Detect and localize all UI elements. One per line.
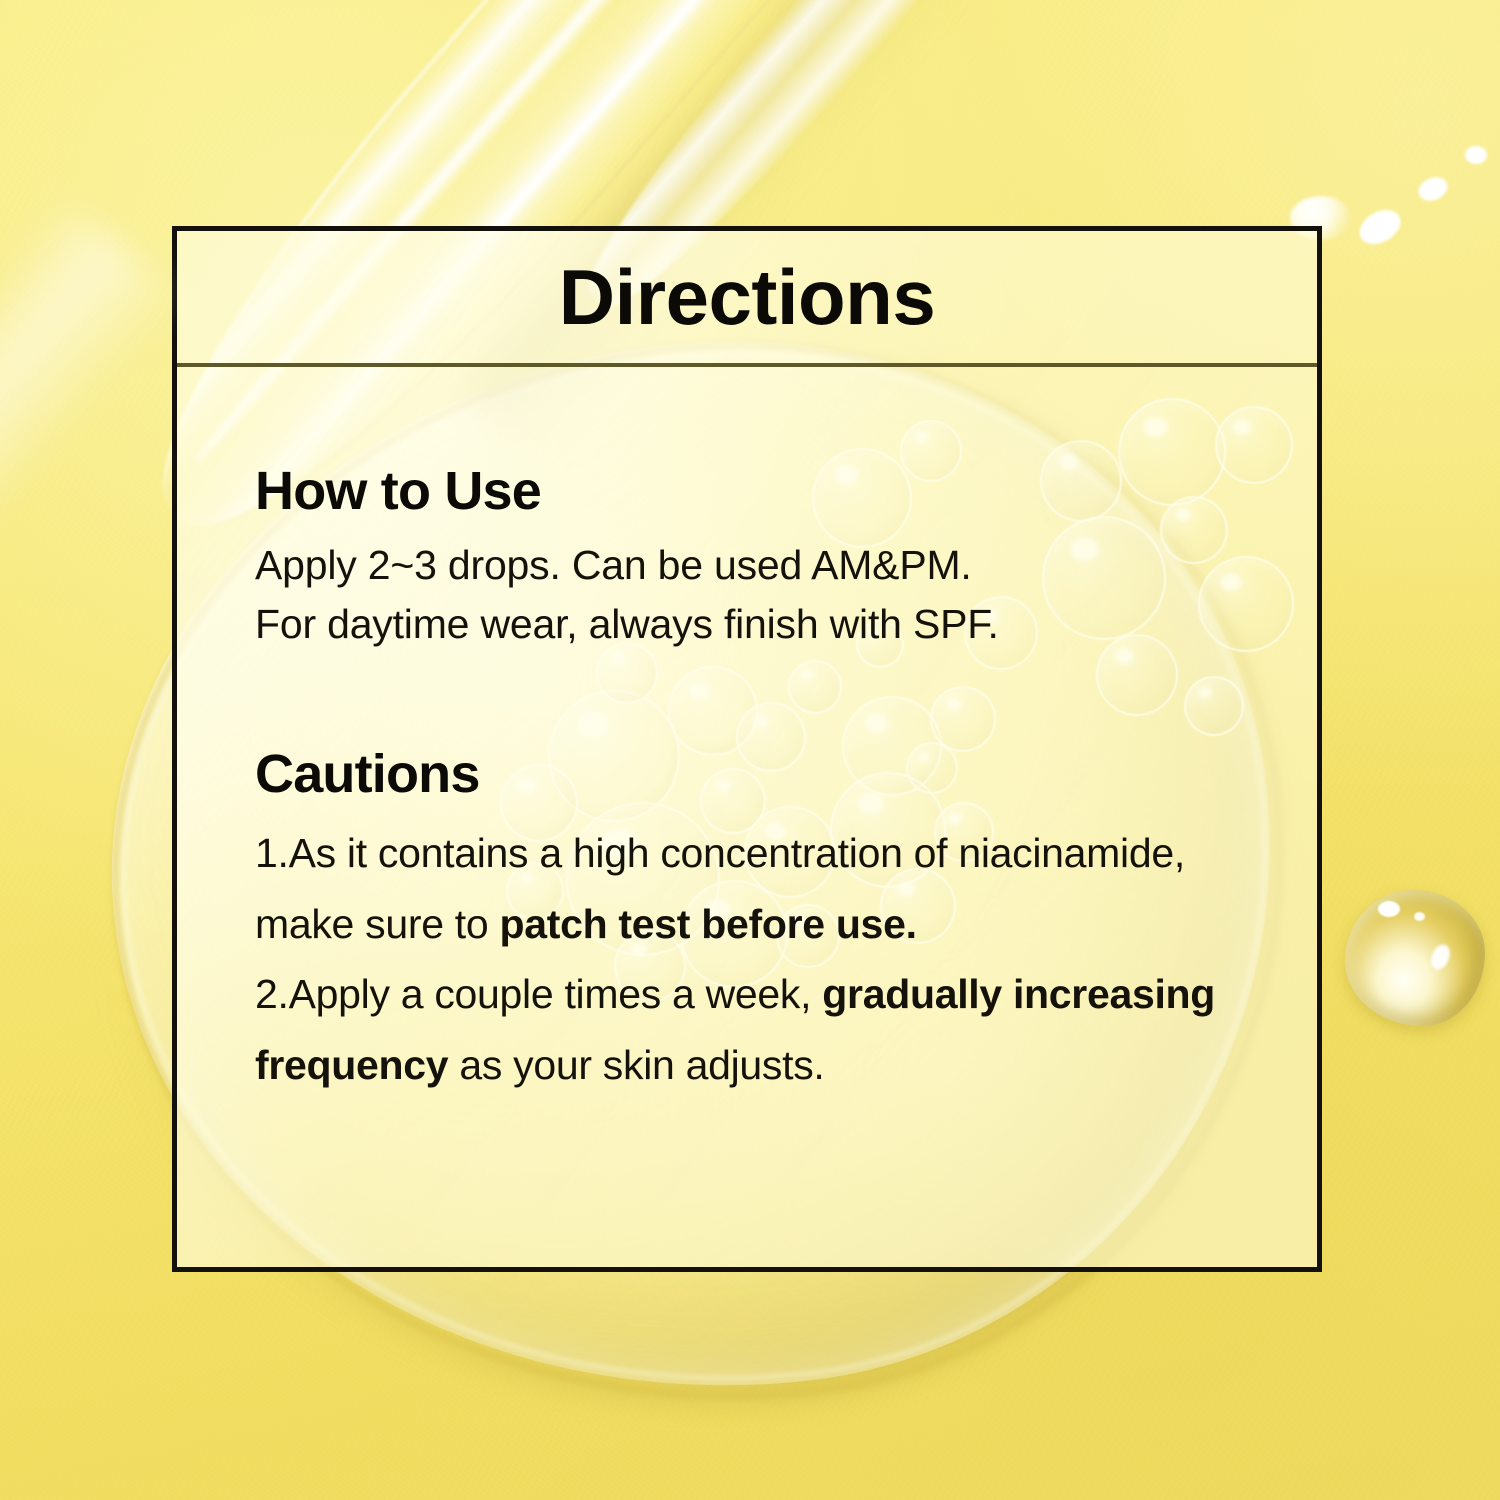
droplet-highlight [1378,901,1400,917]
section-cautions: Cautions 1.As it contains a high concent… [255,746,1245,1101]
panel-header: Directions [177,231,1317,367]
section-heading-cautions: Cautions [255,746,1245,803]
product-directions-graphic: Directions How to Use Apply 2~3 drops. C… [0,0,1500,1500]
panel-body: How to Use Apply 2~3 drops. Can be used … [177,367,1317,1101]
caution-number: 1. [255,830,289,876]
caution-text: Apply a couple times a week, [289,971,823,1017]
caution-item: 2.Apply a couple times a week, gradually… [255,959,1245,1100]
section-heading-how-to-use: How to Use [255,463,1245,520]
caution-item: 1.As it contains a high concentration of… [255,818,1245,959]
how-to-use-line: Apply 2~3 drops. Can be used AM&PM. [255,536,1245,595]
section-how-to-use: How to Use Apply 2~3 drops. Can be used … [255,463,1245,654]
caution-number: 2. [255,971,289,1017]
caution-text-bold: patch test before use. [499,901,916,947]
caution-text: as your skin adjusts. [448,1042,824,1088]
directions-panel: Directions How to Use Apply 2~3 drops. C… [172,226,1322,1272]
how-to-use-line: For daytime wear, always finish with SPF… [255,595,1245,654]
small-serum-droplet [1345,890,1485,1026]
page-title: Directions [559,258,935,336]
droplet-highlight [1414,912,1425,921]
